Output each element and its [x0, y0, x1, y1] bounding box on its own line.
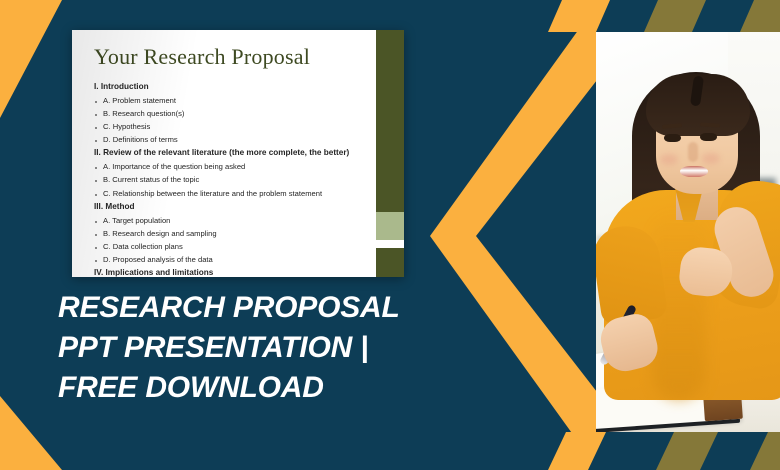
headline-line-2: PPT PRESENTATION | [58, 328, 450, 368]
outline-item: A. Target population [94, 214, 368, 227]
outline-item: B. Current status of the topic [94, 173, 368, 186]
slide-title: Your Research Proposal [94, 44, 310, 70]
outline-heading: IV. Implications and limitations [94, 266, 368, 277]
outline-item: D. Proposed analysis of the data [94, 253, 368, 266]
headline-line-1: RESEARCH PROPOSAL [58, 288, 450, 328]
photo-cheek-right [702, 153, 720, 164]
outline-item: A. Problem statement [94, 94, 368, 107]
photo-composition [596, 30, 780, 442]
photo-eye-right [700, 133, 717, 141]
slide-green-sidebar-accent [376, 212, 404, 240]
outline-item: C. Relationship between the literature a… [94, 187, 368, 200]
orange-triangle-bottom-left [0, 396, 62, 470]
outline-item: A. Importance of the question being aske… [94, 160, 368, 173]
outline-item: D. Definitions of terms [94, 133, 368, 146]
hero-photo [596, 30, 780, 442]
outline-item: C. Hypothesis [94, 120, 368, 133]
outline-item: B. Research design and sampling [94, 227, 368, 240]
diagonal-stripes-top-right [548, 0, 780, 32]
slide-outline: I. Introduction A. Problem statement B. … [94, 80, 368, 277]
outline-heading: I. Introduction [94, 80, 368, 94]
banner-headline: RESEARCH PROPOSAL PPT PRESENTATION | FRE… [58, 288, 450, 408]
slide-green-sidebar-gap [376, 240, 404, 248]
photo-nose [688, 142, 698, 162]
photo-cheek-left [660, 154, 678, 165]
outline-item: B. Research question(s) [94, 107, 368, 120]
ppt-slide-thumbnail[interactable]: Your Research Proposal I. Introduction A… [72, 30, 404, 277]
outline-item: C. Data collection plans [94, 240, 368, 253]
outline-heading: III. Method [94, 200, 368, 214]
photo-eye-left [664, 134, 681, 142]
photo-mouth [680, 166, 708, 177]
banner-canvas: Your Research Proposal I. Introduction A… [0, 0, 780, 470]
outline-heading: II. Review of the relevant literature (t… [94, 146, 368, 160]
orange-triangle-top-left [0, 0, 62, 118]
headline-line-3: FREE DOWNLOAD [58, 368, 450, 408]
